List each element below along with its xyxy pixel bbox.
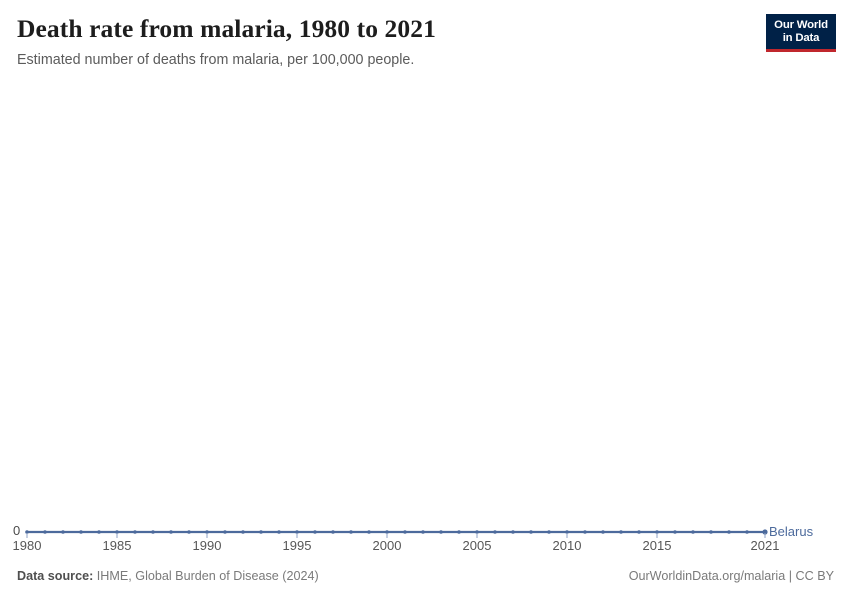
x-axis-tick-label: 1995 (283, 539, 312, 553)
plot-area (0, 80, 850, 550)
data-source: Data source: IHME, Global Burden of Dise… (17, 568, 319, 584)
data-point[interactable] (619, 530, 623, 534)
data-point[interactable] (367, 530, 371, 534)
data-point[interactable] (457, 530, 461, 534)
line-chart-canvas[interactable] (0, 80, 850, 550)
data-point[interactable] (529, 530, 533, 534)
owid-chart: Death rate from malaria, 1980 to 2021 Es… (0, 0, 850, 600)
data-point[interactable] (673, 530, 677, 534)
data-point[interactable] (97, 530, 101, 534)
data-point[interactable] (313, 530, 317, 534)
data-point[interactable] (637, 530, 641, 534)
data-point[interactable] (43, 530, 47, 534)
data-point[interactable] (493, 530, 497, 534)
x-axis-tick-label: 1985 (103, 539, 132, 553)
data-point[interactable] (151, 530, 155, 534)
logo-line-2: in Data (766, 32, 836, 45)
chart-footer: Data source: IHME, Global Burden of Dise… (17, 568, 834, 586)
data-point[interactable] (349, 530, 353, 534)
data-point[interactable] (79, 530, 83, 534)
logo-line-1: Our World (766, 19, 836, 32)
data-point[interactable] (223, 530, 227, 534)
x-axis-tick-label: 2000 (373, 539, 402, 553)
x-axis-tick-label: 1980 (13, 539, 42, 553)
data-point[interactable] (511, 530, 515, 534)
chart-subtitle: Estimated number of deaths from malaria,… (17, 51, 833, 70)
data-point[interactable] (403, 530, 407, 534)
x-axis-tick-label: 2005 (463, 539, 492, 553)
data-point[interactable] (259, 530, 263, 534)
data-point[interactable] (709, 530, 713, 534)
data-point[interactable] (601, 530, 605, 534)
x-axis-tick-label: 2015 (643, 539, 672, 553)
our-world-in-data-logo[interactable]: Our World in Data (766, 14, 836, 52)
data-point[interactable] (187, 530, 191, 534)
data-point[interactable] (331, 530, 335, 534)
data-source-label: Data source: (17, 569, 93, 583)
data-point[interactable] (691, 530, 695, 534)
data-point[interactable] (421, 530, 425, 534)
data-point[interactable] (547, 530, 551, 534)
x-axis-tick-label: 1990 (193, 539, 222, 553)
attribution-link[interactable]: OurWorldinData.org/malaria | CC BY (629, 568, 834, 584)
data-point[interactable] (61, 530, 65, 534)
x-axis-tick-label: 2021 (751, 539, 780, 553)
data-point[interactable] (439, 530, 443, 534)
data-point[interactable] (277, 530, 281, 534)
data-source-value: IHME, Global Burden of Disease (2024) (93, 569, 318, 583)
data-point[interactable] (583, 530, 587, 534)
y-axis-zero-label: 0 (13, 524, 20, 538)
data-point[interactable] (133, 530, 137, 534)
chart-header: Death rate from malaria, 1980 to 2021 Es… (17, 14, 833, 70)
data-point[interactable] (241, 530, 245, 534)
page-title: Death rate from malaria, 1980 to 2021 (17, 14, 833, 44)
data-point[interactable] (745, 530, 749, 534)
data-point[interactable] (169, 530, 173, 534)
x-axis-tick-label: 2010 (553, 539, 582, 553)
series-label-belarus[interactable]: Belarus (769, 525, 813, 539)
data-point[interactable] (727, 530, 731, 534)
